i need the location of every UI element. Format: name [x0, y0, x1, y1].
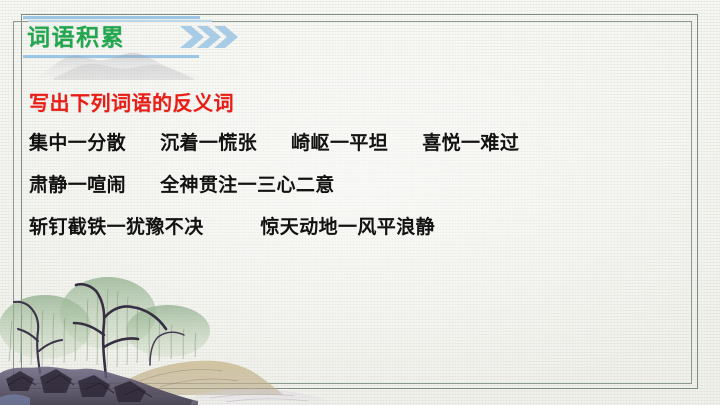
- slide-canvas: 词语积累 写出下列词语的反义词 集中一分散 沉着一慌张 崎岖一平坦 喜悦一难过 …: [0, 0, 720, 405]
- double-chevron-right-icon: [180, 25, 242, 49]
- word-pair-line: 斩钉截铁一犹豫不决 惊天动地一风平浪静: [29, 215, 689, 241]
- page-title: 词语积累: [27, 22, 125, 52]
- prompt-heading: 写出下列词语的反义词: [29, 90, 689, 118]
- title-rule-bottom: [23, 55, 199, 58]
- content-area: 写出下列词语的反义词 集中一分散 沉着一慌张 崎岖一平坦 喜悦一难过 肃静一喧闹…: [29, 90, 689, 241]
- title-rule-top: [23, 16, 200, 19]
- word-pair-line: 肃静一喧闹 全神贯注一三心二意: [29, 173, 689, 199]
- word-pair-line: 集中一分散 沉着一慌张 崎岖一平坦 喜悦一难过: [29, 131, 689, 157]
- ink-wash-willow-landscape-icon: [0, 255, 330, 405]
